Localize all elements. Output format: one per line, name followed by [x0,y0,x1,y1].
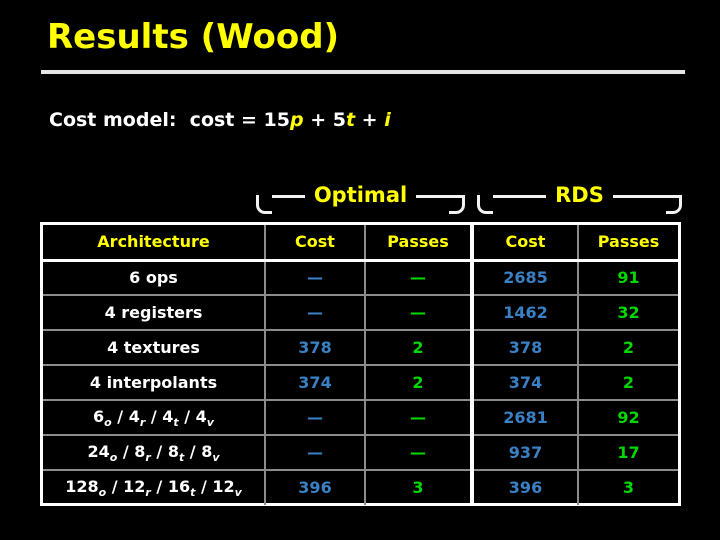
results-table: Architecture Cost Passes Cost Passes 6 o… [43,225,678,505]
group-label-optimal-text: Optimal [305,183,416,207]
cost-model-prefix: Cost model: cost = 15 [49,109,290,131]
group-brace-rds: RDS [477,186,682,220]
cell-rds-passes: 2 [578,365,678,400]
page-title: Results (Wood) [47,16,339,58]
cell-rds-cost: 396 [472,470,578,505]
cell-rds-passes: 91 [578,260,678,295]
table-row: 128o / 12r / 16t / 12v39633963 [43,470,678,505]
cell-optimal-passes: — [365,295,472,330]
cell-optimal-cost: — [265,260,365,295]
cell-architecture: 4 textures [43,330,265,365]
cell-rds-cost: 1462 [472,295,578,330]
cell-rds-passes: 92 [578,400,678,435]
cell-architecture: 4 registers [43,295,265,330]
cell-optimal-passes: — [365,435,472,470]
column-header-optimal-passes: Passes [365,225,472,260]
cost-model-formula: Cost model: cost = 15p + 5t + i [49,107,391,133]
slide-canvas: Results (Wood) Cost model: cost = 15p + … [0,0,720,540]
cost-model-mid-2: + [355,109,384,131]
group-label-rds: RDS [477,183,682,207]
cell-optimal-passes: — [365,260,472,295]
cell-optimal-cost: — [265,435,365,470]
cost-model-variable-t: t [346,109,355,131]
cell-rds-cost: 2681 [472,400,578,435]
table-row: 6 ops——268591 [43,260,678,295]
cost-model-variable-i: i [384,109,391,131]
cell-architecture: 6o / 4r / 4t / 4v [43,400,265,435]
column-header-architecture: Architecture [43,225,265,260]
cell-optimal-cost: 378 [265,330,365,365]
cell-rds-passes: 17 [578,435,678,470]
cell-architecture: 128o / 12r / 16t / 12v [43,470,265,505]
table-row: 6o / 4r / 4t / 4v——268192 [43,400,678,435]
group-brace-optimal: Optimal [256,186,465,220]
cell-architecture: 4 interpolants [43,365,265,400]
cost-model-variable-p: p [290,109,304,131]
cell-rds-passes: 3 [578,470,678,505]
cost-model-mid-1: + 5 [304,109,346,131]
group-label-rds-text: RDS [546,183,613,207]
cell-optimal-passes: — [365,400,472,435]
cell-optimal-cost: — [265,400,365,435]
cell-architecture: 24o / 8r / 8t / 8v [43,435,265,470]
column-header-optimal-cost: Cost [265,225,365,260]
cell-rds-cost: 2685 [472,260,578,295]
cell-rds-cost: 937 [472,435,578,470]
cell-architecture: 6 ops [43,260,265,295]
cell-optimal-passes: 3 [365,470,472,505]
cell-optimal-passes: 2 [365,365,472,400]
results-table-container: Architecture Cost Passes Cost Passes 6 o… [40,222,681,506]
table-body: 6 ops——2685914 registers——1462324 textur… [43,260,678,505]
cell-optimal-cost: — [265,295,365,330]
group-label-optimal: Optimal [256,183,465,207]
table-row: 4 registers——146232 [43,295,678,330]
column-header-rds-passes: Passes [578,225,678,260]
cell-optimal-passes: 2 [365,330,472,365]
cell-rds-passes: 32 [578,295,678,330]
column-header-rds-cost: Cost [472,225,578,260]
cell-optimal-cost: 396 [265,470,365,505]
table-row: 4 textures37823782 [43,330,678,365]
cell-rds-passes: 2 [578,330,678,365]
table-header: Architecture Cost Passes Cost Passes [43,225,678,260]
table-row: 4 interpolants37423742 [43,365,678,400]
table-row: 24o / 8r / 8t / 8v——93717 [43,435,678,470]
cell-rds-cost: 374 [472,365,578,400]
table-header-row: Architecture Cost Passes Cost Passes [43,225,678,260]
title-divider [41,70,685,74]
cell-rds-cost: 378 [472,330,578,365]
cell-optimal-cost: 374 [265,365,365,400]
